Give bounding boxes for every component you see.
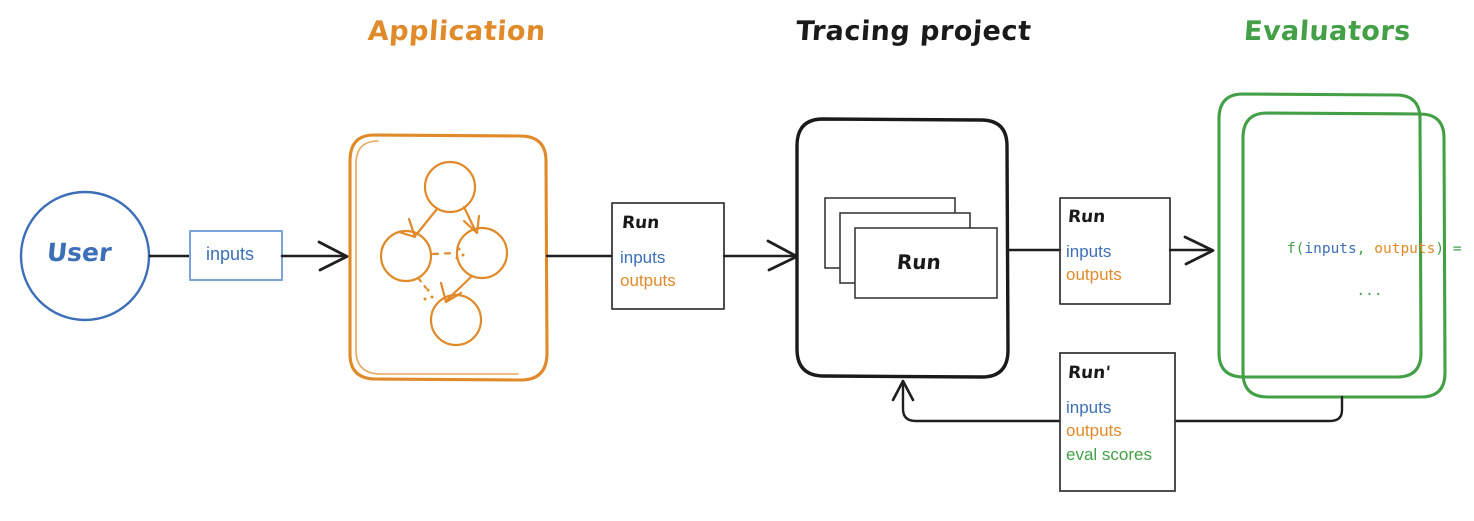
run-box-2-title: Run	[1067, 207, 1106, 227]
diagram-canvas: Application Tracing project Evaluators .…	[0, 0, 1474, 521]
app-graph-dot-f	[424, 298, 427, 301]
app-graph-node-top	[425, 162, 475, 212]
run-box-2-field-inputs: inputs	[1066, 242, 1111, 262]
app-graph-arrowhead-top-left	[399, 219, 415, 237]
inputs-box-label: inputs	[206, 244, 254, 265]
evaluator-formula-fn: f(	[1287, 241, 1304, 257]
app-graph-dot-b	[462, 254, 465, 257]
app-graph-node-bottom	[431, 295, 481, 345]
run-box-2-field-outputs: outputs	[1066, 265, 1122, 285]
run-prime-field-eval-scores: eval scores	[1066, 445, 1152, 465]
evaluator-formula: f(inputs, outputs) = ...	[1252, 218, 1452, 323]
evaluator-formula-separator: ,	[1357, 241, 1374, 257]
tracing-run-card-label: Run	[896, 250, 942, 274]
evaluator-formula-arg-outputs: outputs	[1374, 241, 1435, 257]
run-box-1-field-outputs: outputs	[620, 271, 676, 291]
evaluator-formula-arg-inputs: inputs	[1304, 241, 1356, 257]
run-box-1-title: Run	[621, 213, 660, 233]
app-graph-node-right	[457, 228, 507, 278]
user-label: User	[45, 238, 113, 267]
app-graph-edge-left-bottom-dotted	[419, 279, 426, 288]
evaluator-formula-close: ) =	[1435, 241, 1461, 257]
app-graph-edge-left-right-dotted	[433, 253, 455, 254]
app-graph-dot-a	[458, 248, 461, 251]
app-graph-edge-right-bottom	[447, 276, 472, 300]
app-graph-dot-d	[427, 289, 430, 292]
run-box-1-field-inputs: inputs	[620, 248, 665, 268]
run-prime-field-outputs: outputs	[1066, 421, 1122, 441]
app-graph-dot-e	[431, 296, 434, 299]
app-graph-node-left	[381, 231, 431, 281]
run-prime-field-inputs: inputs	[1066, 398, 1111, 418]
app-graph-dot-c	[456, 257, 459, 260]
run-prime-box-title: Run'	[1067, 363, 1111, 383]
evaluator-formula-ellipsis: ...	[1356, 283, 1382, 299]
app-graph-edge-top-left	[416, 209, 437, 235]
